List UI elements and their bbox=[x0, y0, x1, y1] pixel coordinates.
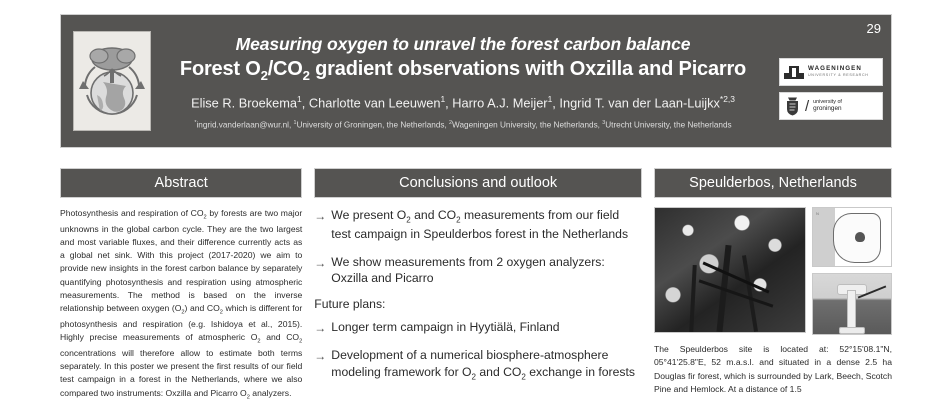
poster-title: Forest O2/CO2 gradient observations with… bbox=[180, 58, 746, 83]
list-item: → Development of a numerical biosphere-a… bbox=[314, 347, 642, 383]
header-logos-area: 29 WAGENINGEN UNIVERSITY & RESEARCH bbox=[773, 15, 891, 147]
poster-body-columns: Abstract Photosynthesis and respiration … bbox=[60, 168, 892, 420]
affiliation-line: *ingrid.vanderlaan@wur.nl, 1University o… bbox=[194, 120, 731, 130]
university-of-groningen-logo: / university of groningen bbox=[779, 92, 883, 120]
arrow-right-icon: → bbox=[314, 347, 331, 383]
abstract-heading: Abstract bbox=[60, 168, 302, 198]
site-heading: Speulderbos, Netherlands bbox=[654, 168, 892, 198]
conclusions-heading: Conclusions and outlook bbox=[314, 168, 642, 198]
wageningen-logo-line2: UNIVERSITY & RESEARCH bbox=[808, 74, 869, 78]
netherlands-location-map: N bbox=[812, 207, 892, 267]
list-item: → We show measurements from 2 oxygen ana… bbox=[314, 254, 642, 287]
groningen-crest-icon bbox=[784, 96, 801, 116]
arrow-right-icon: → bbox=[314, 254, 331, 287]
groningen-logo-line2: groningen bbox=[813, 105, 842, 112]
site-side-images: N bbox=[812, 207, 892, 335]
forest-canopy-photo bbox=[654, 207, 806, 333]
section-abstract: Abstract Photosynthesis and respiration … bbox=[60, 168, 302, 420]
site-image-row: N bbox=[654, 207, 892, 335]
title-sub-1: 2 bbox=[261, 68, 268, 83]
arrow-right-icon: → bbox=[314, 207, 331, 243]
poster-header: Measuring oxygen to unravel the forest c… bbox=[60, 14, 892, 148]
header-logo-area bbox=[61, 15, 153, 147]
abstract-body-text: Photosynthesis and respiration of CO2 by… bbox=[60, 207, 302, 402]
site-caption-text: The Speulderbos site is located at: 52°1… bbox=[654, 343, 892, 396]
arrow-right-icon: → bbox=[314, 319, 331, 336]
list-item: → We present O2 and CO2 measurements fro… bbox=[314, 207, 642, 243]
title-sub-2: 2 bbox=[303, 68, 310, 83]
list-item: → Longer term campaign in Hyytiälä, Finl… bbox=[314, 319, 642, 336]
measurement-tower-instrument-photo bbox=[812, 273, 892, 335]
groningen-logo-separator: / bbox=[805, 98, 809, 115]
conclusion-bullet-1: We present O2 and CO2 measurements from … bbox=[331, 207, 642, 243]
title-part-a: Forest O bbox=[180, 58, 261, 80]
tree-globe-icon bbox=[77, 37, 147, 125]
conclusion-bullet-2: We show measurements from 2 oxygen analy… bbox=[331, 254, 642, 287]
section-site: Speulderbos, Netherlands N bbox=[654, 168, 892, 420]
author-list: Elise R. Broekema1, Charlotte van Leeuwe… bbox=[191, 94, 735, 110]
future-bullet-2: Development of a numerical biosphere-atm… bbox=[331, 347, 642, 383]
page-number: 29 bbox=[867, 21, 881, 36]
crest-shield-icon bbox=[785, 97, 800, 116]
poster-canvas: Measuring oxygen to unravel the forest c… bbox=[0, 0, 950, 420]
title-part-b: /CO bbox=[268, 58, 303, 80]
header-title-block: Measuring oxygen to unravel the forest c… bbox=[153, 15, 773, 147]
tree-globe-carbon-cycle-logo bbox=[73, 31, 151, 131]
conclusions-bullet-list: → We present O2 and CO2 measurements fro… bbox=[314, 207, 642, 383]
future-plans-label: Future plans: bbox=[314, 297, 642, 311]
wageningen-logo-line1: WAGENINGEN bbox=[808, 66, 869, 72]
title-part-c: gradient observations with Oxzilla and P… bbox=[310, 58, 746, 80]
wageningen-university-research-logo: WAGENINGEN UNIVERSITY & RESEARCH bbox=[779, 58, 883, 86]
poster-subtitle: Measuring oxygen to unravel the forest c… bbox=[236, 34, 691, 55]
future-bullet-1: Longer term campaign in Hyytiälä, Finlan… bbox=[331, 319, 642, 336]
section-conclusions: Conclusions and outlook → We present O2 … bbox=[314, 168, 642, 420]
wageningen-mark-icon bbox=[784, 63, 804, 81]
